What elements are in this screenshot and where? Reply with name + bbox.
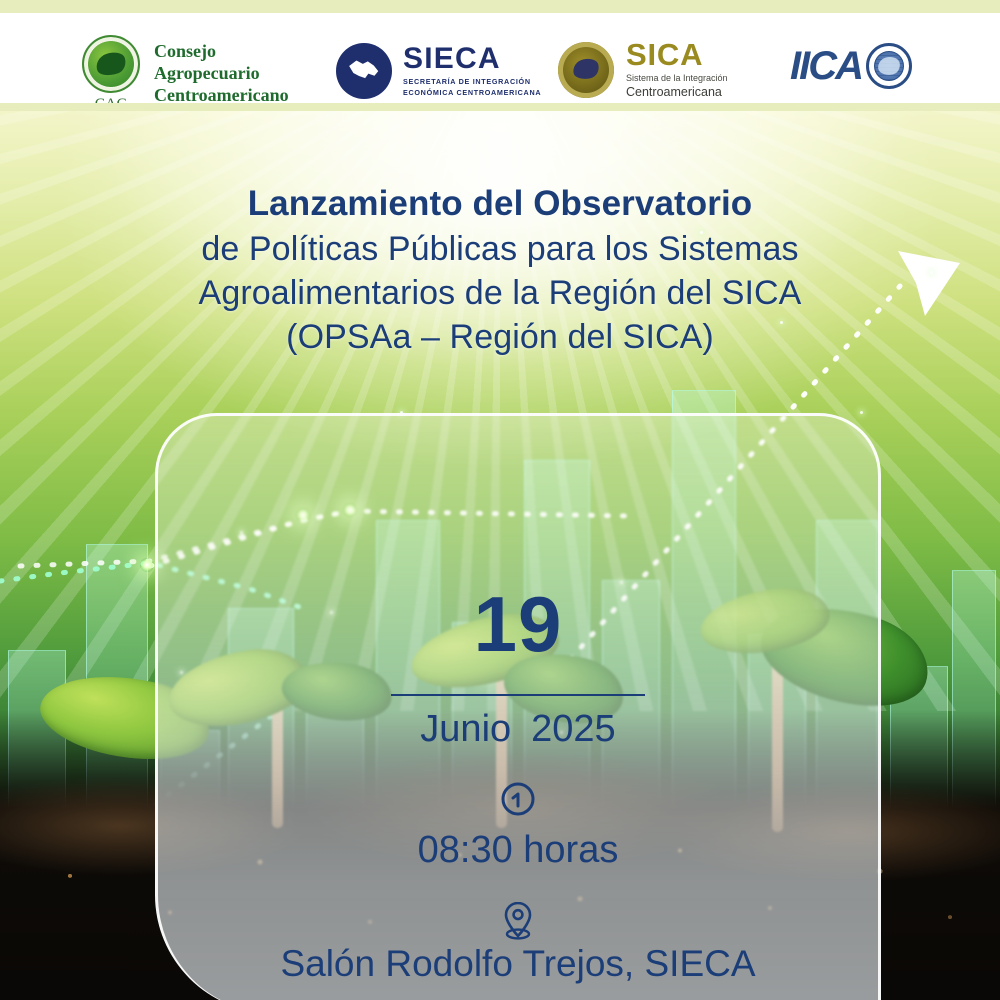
title-line-1: Lanzamiento del Observatorio xyxy=(0,181,1000,227)
location-pin-icon xyxy=(500,899,536,943)
event-venue: Salón Rodolfo Trejos, SIECA xyxy=(155,943,881,985)
poster-artwork: Lanzamiento del Observatorio de Política… xyxy=(0,111,1000,1000)
cac-seal-group: CAC xyxy=(82,35,140,113)
event-time: 08:30 horas xyxy=(155,829,881,872)
clock-icon xyxy=(498,779,538,819)
cac-seal-icon xyxy=(82,35,140,93)
event-month-year: Junio2025 xyxy=(155,705,881,754)
cac-line-1: Consejo xyxy=(154,41,289,63)
sieca-wordmark: SIECA SECRETARÍA DE INTEGRACIÓN ECONÓMIC… xyxy=(403,44,541,98)
event-poster: CAC Consejo Agropecuario Centroamericano… xyxy=(0,0,1000,1000)
logo-sieca: SIECA SECRETARÍA DE INTEGRACIÓN ECONÓMIC… xyxy=(336,43,541,99)
sica-wordmark: SICA Sistema de la Integración Centroame… xyxy=(626,39,728,101)
iica-name: IICA xyxy=(790,46,862,86)
logo-cac: CAC Consejo Agropecuario Centroamericano xyxy=(82,35,289,113)
logo-bar: CAC Consejo Agropecuario Centroamericano… xyxy=(0,13,1000,103)
page-title: Lanzamiento del Observatorio de Política… xyxy=(0,181,1000,359)
glow-node xyxy=(140,558,154,572)
cac-line-2: Agropecuario xyxy=(154,63,289,85)
event-details: 19 Junio2025 08:30 horas Salón Rodolfo T… xyxy=(155,413,881,1000)
sieca-map-icon xyxy=(336,43,392,99)
top-accent-band xyxy=(0,0,1000,13)
iica-globe-icon xyxy=(866,43,912,89)
sieca-subtitle: SECRETARÍA DE INTEGRACIÓN ECONÓMICA CENT… xyxy=(403,77,541,98)
sica-subtitle-line-1: Sistema de la Integración xyxy=(626,72,728,84)
logo-sica: SICA Sistema de la Integración Centroame… xyxy=(558,39,728,101)
title-line-3: Agroalimentarios de la Región del SICA xyxy=(0,271,1000,315)
sica-subtitle-line-2: Centroamericana xyxy=(626,84,728,101)
sieca-subtitle-line-2: ECONÓMICA CENTROAMERICANA xyxy=(403,88,541,98)
sieca-subtitle-line-1: SECRETARÍA DE INTEGRACIÓN xyxy=(403,77,541,87)
event-day: 19 xyxy=(155,585,881,663)
event-month: Junio xyxy=(420,708,511,750)
date-divider xyxy=(391,694,645,696)
title-line-4: (OPSAa – Región del SICA) xyxy=(0,315,1000,359)
sica-subtitle: Sistema de la Integración Centroamerican… xyxy=(626,72,728,101)
sica-name: SICA xyxy=(626,39,728,70)
sica-seal-icon xyxy=(558,42,614,98)
title-line-2: de Políticas Públicas para los Sistemas xyxy=(0,227,1000,271)
bottom-accent-band xyxy=(0,103,1000,111)
logo-iica: IICA xyxy=(790,43,912,89)
sieca-name: SIECA xyxy=(403,44,541,74)
event-year: 2025 xyxy=(531,708,616,750)
cac-wordmark: Consejo Agropecuario Centroamericano xyxy=(154,41,289,107)
